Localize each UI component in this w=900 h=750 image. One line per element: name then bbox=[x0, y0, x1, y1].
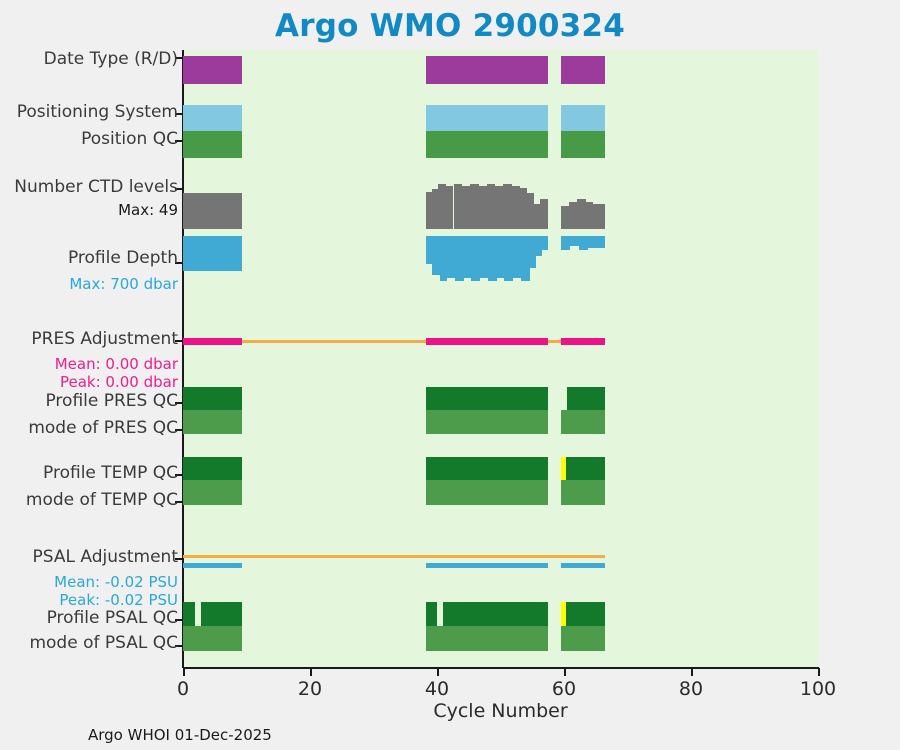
bar-ctd-levels bbox=[512, 186, 520, 229]
row-label-pres-peak: Peak: 0.00 dbar bbox=[60, 375, 178, 391]
bar-ctd-levels bbox=[454, 184, 463, 229]
bar-ctd-levels bbox=[487, 184, 496, 229]
band-profile-temp-qc bbox=[426, 457, 549, 480]
bar-profile-depth bbox=[471, 236, 480, 281]
row-label-psal-adjustment: PSAL Adjustment bbox=[33, 549, 178, 567]
band-mode-pres-qc bbox=[561, 410, 605, 434]
row-label-ctd-levels-max: Max: 49 bbox=[118, 203, 178, 219]
x-axis-tick-label: 80 bbox=[679, 678, 703, 700]
bar-ctd-levels bbox=[577, 199, 586, 229]
bar-ctd-levels bbox=[561, 206, 569, 229]
band-profile-psal-qc bbox=[566, 602, 605, 626]
bar-profile-depth bbox=[497, 236, 505, 278]
bar-profile-depth bbox=[440, 236, 448, 281]
row-label-pres-mean: Mean: 0.00 dbar bbox=[55, 357, 178, 373]
line-pres-adjustment bbox=[561, 338, 605, 345]
line-psal-adjustment bbox=[561, 563, 605, 568]
line-psal-adjustment bbox=[183, 563, 242, 568]
row-label-mode-pres-qc: mode of PRES QC bbox=[28, 420, 178, 438]
band-profile-temp-qc bbox=[183, 457, 242, 480]
band-profile-pres-qc bbox=[567, 387, 606, 410]
bar-profile-depth bbox=[513, 236, 521, 278]
x-axis-tick-label: 20 bbox=[298, 678, 322, 700]
band-profile-psal-qc bbox=[183, 602, 195, 626]
bar-profile-depth bbox=[488, 236, 497, 281]
x-axis-tick bbox=[564, 668, 566, 676]
x-axis-tick bbox=[437, 668, 439, 676]
flag-psal-qc-yellow bbox=[561, 602, 565, 626]
line-pres-adjustment bbox=[426, 338, 549, 345]
band-positioning-system bbox=[561, 105, 605, 131]
bar-ctd-levels bbox=[438, 184, 446, 229]
band-position-qc bbox=[426, 131, 549, 158]
x-axis-tick-label: 0 bbox=[177, 678, 189, 700]
band-profile-temp-qc bbox=[566, 457, 605, 480]
page-title: Argo WMO 2900324 bbox=[0, 8, 900, 44]
band-mode-pres-qc bbox=[426, 410, 549, 434]
bar-ctd-levels bbox=[462, 186, 470, 229]
bar-ctd-levels bbox=[503, 184, 512, 229]
line-pres-adjustment bbox=[183, 338, 242, 345]
bar-ctd-levels bbox=[183, 193, 242, 229]
row-label-psal-peak: Peak: -0.02 PSU bbox=[59, 593, 178, 609]
row-label-pres-adjustment: PRES Adjustment bbox=[31, 331, 178, 349]
x-axis-tick-label: 100 bbox=[800, 678, 836, 700]
band-profile-psal-qc bbox=[426, 602, 437, 626]
bar-profile-depth bbox=[455, 236, 464, 281]
x-axis-tick bbox=[183, 668, 185, 676]
row-label-psal-mean: Mean: -0.02 PSU bbox=[54, 575, 178, 591]
band-positioning-system bbox=[426, 105, 549, 131]
bar-ctd-levels bbox=[569, 202, 577, 229]
band-profile-psal-qc bbox=[201, 602, 242, 626]
bar-ctd-levels bbox=[479, 186, 487, 229]
row-label-ctd-levels: Number CTD levels bbox=[14, 179, 178, 197]
x-axis-tick bbox=[818, 668, 820, 676]
x-axis-title: Cycle Number bbox=[183, 700, 818, 722]
footer-credit: Argo WHOI 01-Dec-2025 bbox=[88, 726, 272, 744]
band-mode-pres-qc bbox=[183, 410, 242, 434]
bar-profile-depth bbox=[561, 236, 570, 250]
row-label-profile-depth: Profile Depth bbox=[68, 250, 178, 268]
band-profile-pres-qc bbox=[426, 387, 549, 410]
row-label-profile-depth-max: Max: 700 dbar bbox=[69, 277, 178, 293]
band-mode-psal-qc bbox=[561, 626, 605, 651]
x-axis-tick bbox=[310, 668, 312, 676]
bar-ctd-levels bbox=[446, 186, 454, 229]
bar-profile-depth bbox=[464, 236, 472, 278]
row-label-positioning-system: Positioning System bbox=[17, 104, 178, 122]
bar-ctd-levels bbox=[520, 188, 528, 229]
band-position-qc bbox=[561, 131, 605, 158]
bar-ctd-levels bbox=[586, 202, 594, 229]
band-mode-temp-qc bbox=[561, 480, 605, 505]
bar-ctd-levels bbox=[540, 199, 548, 229]
band-profile-psal-qc bbox=[443, 602, 548, 626]
row-label-mode-psal-qc: mode of PSAL QC bbox=[29, 635, 178, 653]
row-label-profile-pres-qc: Profile PRES QC bbox=[45, 393, 178, 411]
x-axis-tick-label: 60 bbox=[552, 678, 576, 700]
bar-profile-depth bbox=[183, 236, 242, 271]
flag-temp-qc-yellow bbox=[561, 457, 565, 480]
band-date-type bbox=[183, 56, 242, 84]
bar-profile-depth bbox=[480, 236, 488, 278]
argo-wmo-chart: Argo WMO 2900324 020406080100 Date Type … bbox=[0, 0, 900, 750]
band-positioning-system bbox=[183, 105, 242, 131]
band-mode-psal-qc bbox=[183, 626, 242, 651]
row-label-profile-temp-qc: Profile TEMP QC bbox=[43, 465, 178, 483]
band-mode-temp-qc bbox=[183, 480, 242, 505]
bar-profile-depth bbox=[447, 236, 455, 278]
x-axis-tick bbox=[691, 668, 693, 676]
x-axis-tick-label: 40 bbox=[425, 678, 449, 700]
bar-profile-depth bbox=[579, 236, 588, 250]
bar-profile-depth bbox=[504, 236, 513, 281]
bar-profile-depth bbox=[521, 236, 530, 281]
line-psal-zero-reference bbox=[183, 555, 605, 558]
band-position-qc bbox=[183, 131, 242, 158]
bar-profile-depth bbox=[570, 236, 579, 246]
band-date-type bbox=[561, 56, 605, 84]
row-label-date-type: Date Type (R/D) bbox=[44, 51, 178, 69]
bar-profile-depth bbox=[588, 236, 605, 248]
bar-profile-depth bbox=[432, 236, 440, 275]
band-mode-temp-qc bbox=[426, 480, 549, 505]
band-mode-psal-qc bbox=[426, 626, 549, 651]
bar-ctd-levels bbox=[470, 184, 479, 229]
row-label-mode-temp-qc: mode of TEMP QC bbox=[26, 492, 178, 510]
bar-ctd-levels bbox=[495, 186, 503, 229]
line-psal-adjustment bbox=[426, 563, 549, 568]
band-date-type bbox=[426, 56, 549, 84]
bar-ctd-levels bbox=[593, 204, 605, 229]
chart-data-layer bbox=[183, 50, 818, 668]
band-profile-pres-qc bbox=[183, 387, 242, 410]
row-label-position-qc: Position QC bbox=[81, 131, 178, 149]
row-label-profile-psal-qc: Profile PSAL QC bbox=[47, 610, 178, 628]
bar-profile-depth bbox=[542, 236, 548, 250]
